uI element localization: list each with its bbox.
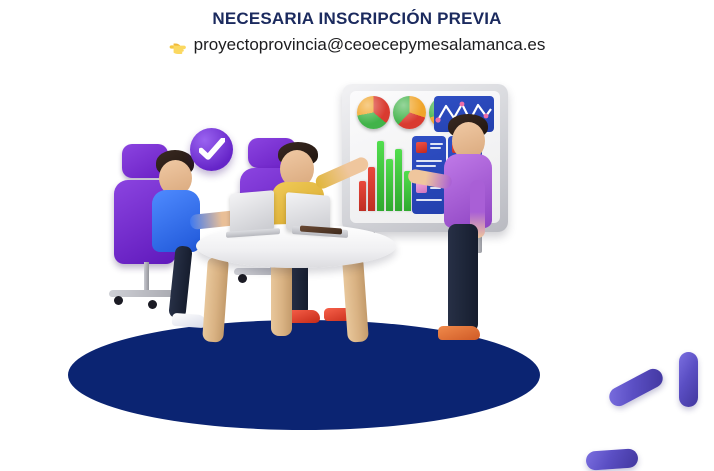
backhand-index-pointing-right-icon xyxy=(169,38,188,54)
header: NECESARIA INSCRIPCIÓN PREVIA proyectopro… xyxy=(0,0,714,57)
decorative-capsule-2 xyxy=(679,352,698,407)
pie-chart-1 xyxy=(357,96,390,129)
illustration xyxy=(0,62,714,402)
bar-5 xyxy=(395,149,402,211)
laptop-left-screen xyxy=(230,190,274,234)
check-icon xyxy=(199,138,225,162)
panel-chip-red xyxy=(416,142,427,153)
slide-canvas: NECESARIA INSCRIPCIÓN PREVIA proyectopro… xyxy=(0,0,714,402)
presenter-shoe xyxy=(438,326,480,340)
check-circle-badge xyxy=(190,128,233,171)
table-leg-center xyxy=(271,262,292,336)
chair-caster-1 xyxy=(114,296,123,305)
person-left-leg xyxy=(168,245,192,318)
person-standing-presenter xyxy=(430,114,520,364)
chair-stem xyxy=(144,262,149,292)
decorative-capsule-3 xyxy=(585,448,638,471)
page-title: NECESARIA INSCRIPCIÓN PREVIA xyxy=(0,8,714,30)
presenter-legs xyxy=(448,224,478,332)
person-center-arm-raised xyxy=(314,155,371,191)
pie-chart-2 xyxy=(393,96,426,129)
contact-email-row: proyectoprovincia@ceoecepymesalamanca.es xyxy=(0,33,714,57)
decorative-capsule-1 xyxy=(606,365,666,409)
person-left-shoe xyxy=(172,313,207,328)
contact-email-text: proyectoprovincia@ceoecepymesalamanca.es xyxy=(194,33,546,57)
